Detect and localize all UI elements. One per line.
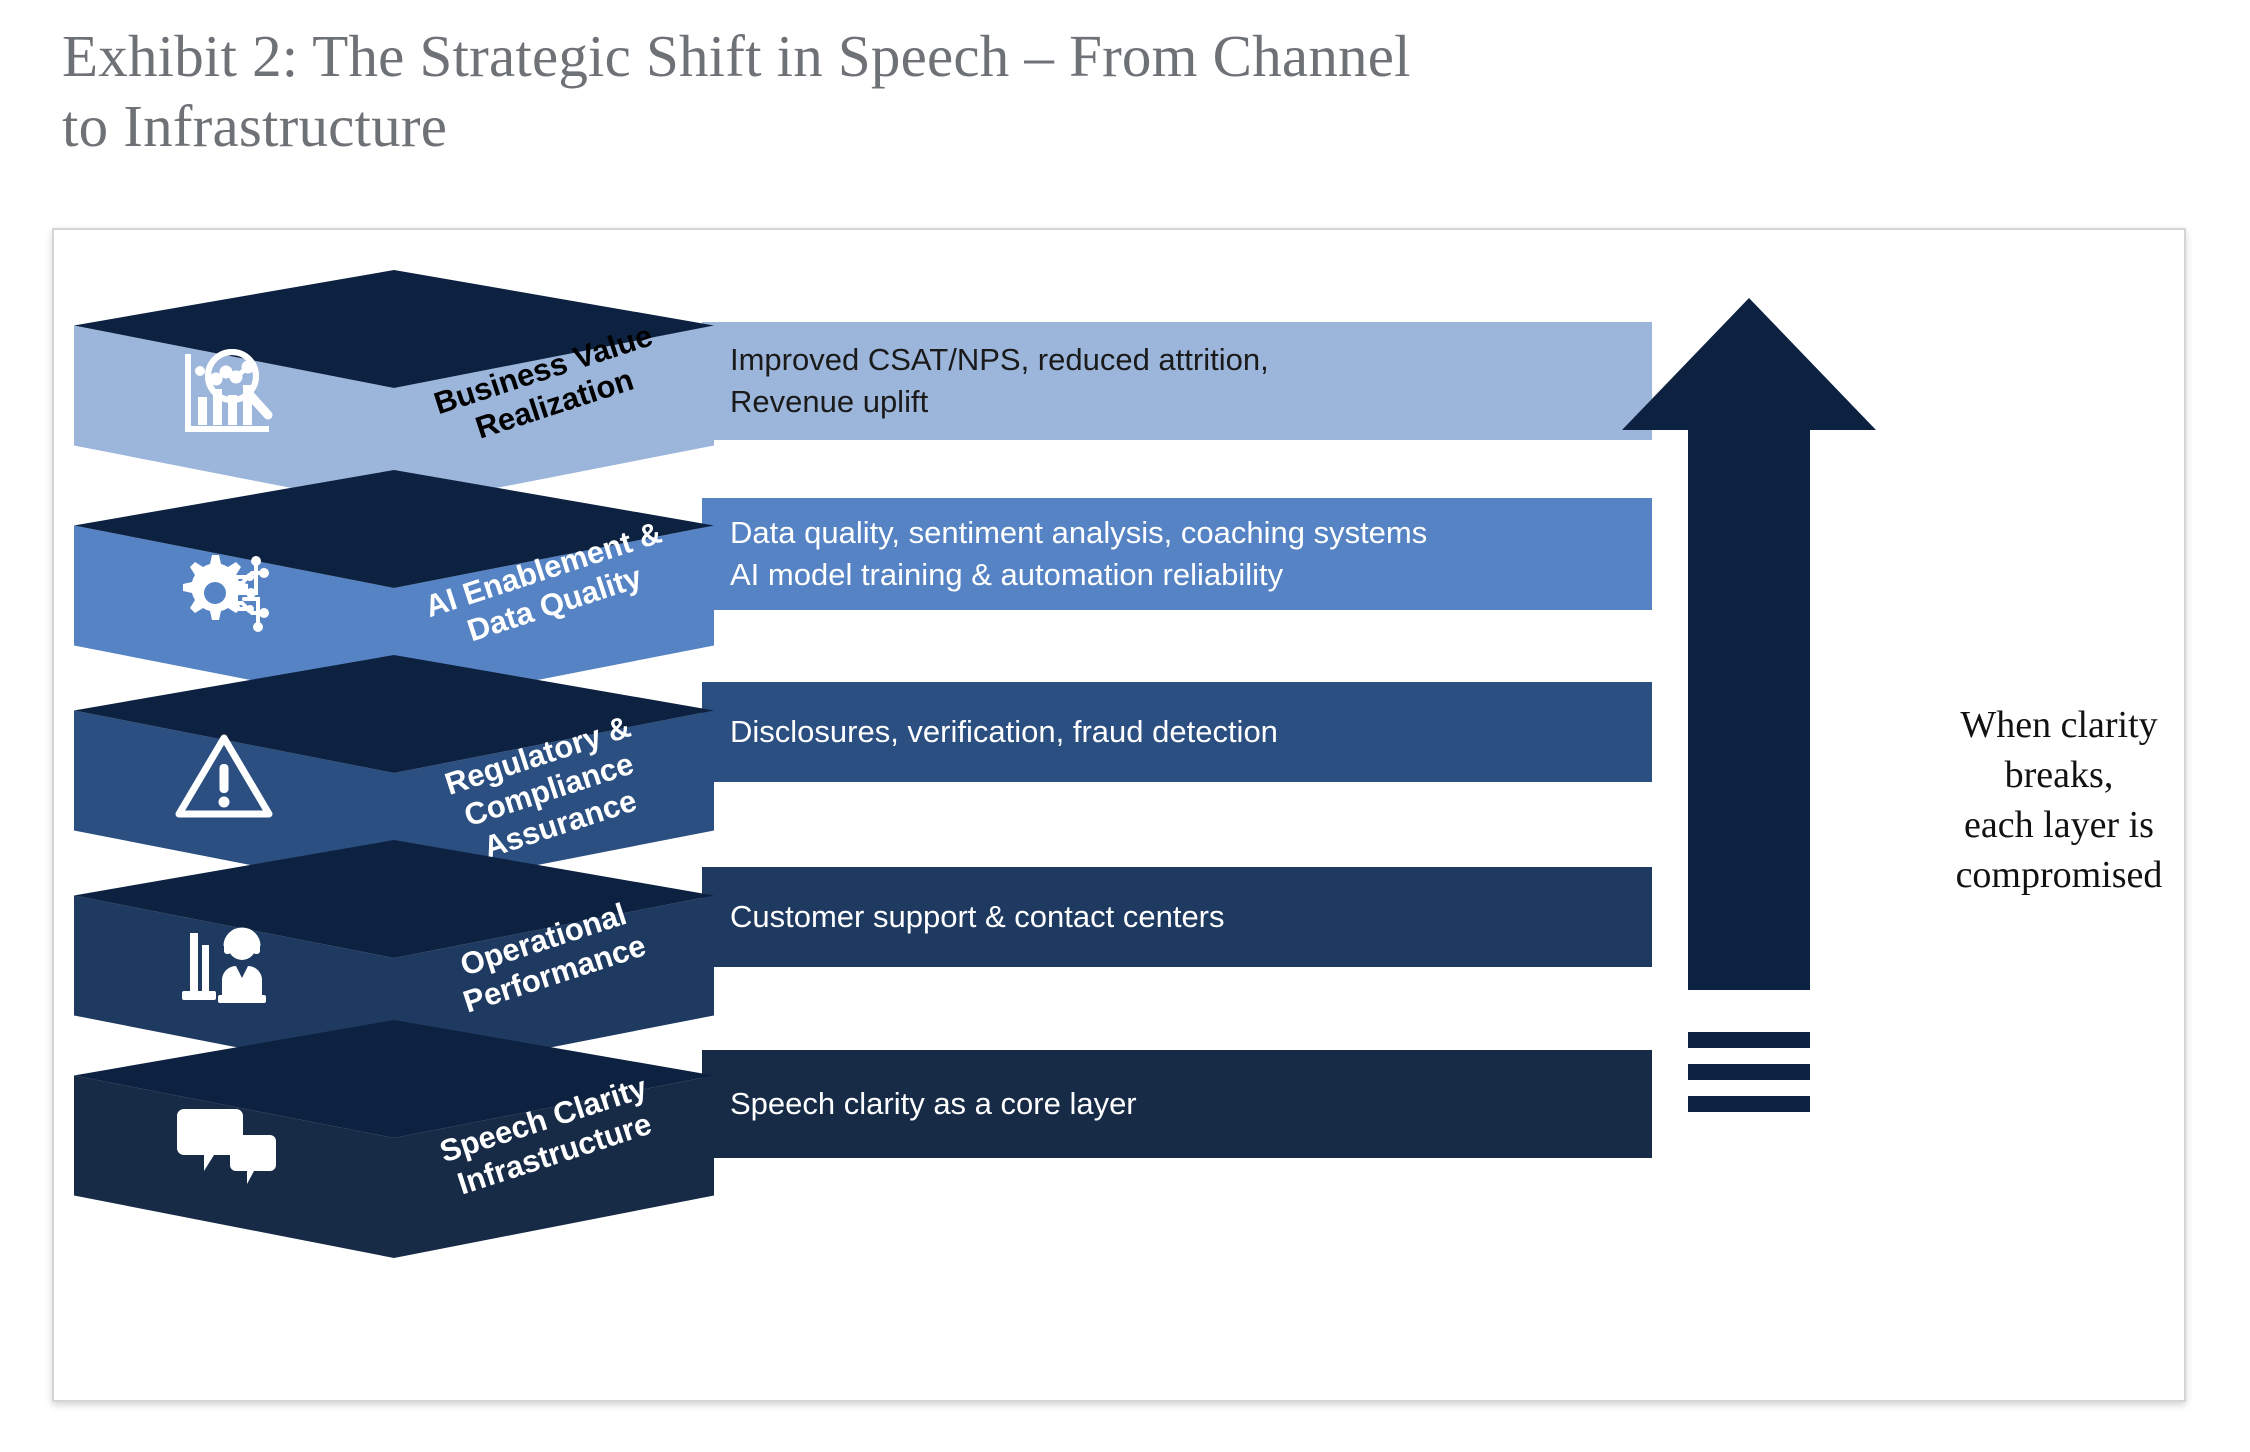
description-line: Data quality, sentiment analysis, coachi…	[730, 512, 1652, 554]
upward-arrow-icon	[1614, 290, 1884, 990]
description-line: Disclosures, verification, fraud detecti…	[730, 711, 1652, 753]
layer-label-line: Infrastructure	[392, 1086, 717, 1222]
layer-label-line: AI Enablement &	[381, 502, 706, 638]
layer-shape-business-value-realization	[54, 230, 754, 1402]
layer-label-line: Speech Clarity	[381, 1052, 706, 1188]
upward-arrow-group	[1614, 290, 1884, 1310]
page-title-line-1: Exhibit 2: The Strategic Shift in Speech…	[62, 22, 1962, 92]
description-line: Speech clarity as a core layer	[730, 1083, 1652, 1125]
layer-label-regulatory-compliance-assurance: Regulatory &ComplianceAssurance	[375, 688, 722, 893]
layer-label-ai-enablement-data-quality: AI Enablement &Data Quality	[381, 502, 717, 672]
layer-label-line: Realization	[392, 336, 717, 472]
arrow-caption-line: breaks,	[1894, 750, 2186, 800]
description-line: Revenue uplift	[730, 381, 1652, 423]
arrow-caption-line: compromised	[1894, 850, 2186, 900]
description-bar-operational-performance: Customer support & contact centers	[702, 867, 1652, 967]
description-bar-regulatory-compliance-assurance: Disclosures, verification, fraud detecti…	[702, 682, 1652, 782]
layer-label-line: Data Quality	[392, 536, 717, 672]
layer-shape-ai-enablement-data-quality	[54, 230, 754, 1402]
page-title: Exhibit 2: The Strategic Shift in Speech…	[62, 22, 1962, 161]
layer-stack-diagram: Improved CSAT/NPS, reduced attrition,Rev…	[54, 230, 2184, 1400]
arrow-caption-line: each layer is	[1894, 800, 2186, 850]
layer-label-line: Assurance	[398, 756, 723, 892]
layer-shape-operational-performance	[54, 230, 754, 1402]
layer-label-line: Compliance	[387, 722, 712, 858]
arrow-caption-line: When clarity	[1894, 700, 2186, 750]
layer-label-line: Regulatory &	[375, 688, 700, 824]
layer-label-operational-performance: OperationalPerformance	[381, 872, 717, 1042]
layer-shape-regulatory-compliance-assurance	[54, 230, 754, 1402]
description-line: AI model training & automation reliabili…	[730, 554, 1652, 596]
description-line: Improved CSAT/NPS, reduced attrition,	[730, 339, 1652, 381]
diagram-frame: Improved CSAT/NPS, reduced attrition,Rev…	[52, 228, 2186, 1402]
layer-label-business-value-realization: Business ValueRealization	[381, 302, 717, 472]
description-bar-business-value-realization: Improved CSAT/NPS, reduced attrition,Rev…	[702, 322, 1652, 440]
layer-label-line: Business Value	[381, 302, 706, 438]
arrow-caption: When claritybreaks,each layer iscompromi…	[1894, 700, 2186, 901]
page-title-line-2: to Infrastructure	[62, 92, 1962, 162]
layer-label-line: Performance	[392, 906, 717, 1042]
description-bar-ai-enablement-data-quality: Data quality, sentiment analysis, coachi…	[702, 498, 1652, 610]
description-bar-speech-clarity-infrastructure: Speech clarity as a core layer	[702, 1050, 1652, 1158]
arrow-rung-3	[1688, 1096, 1810, 1112]
layer-label-line: Operational	[381, 872, 706, 1008]
layer-label-speech-clarity-infrastructure: Speech ClarityInfrastructure	[381, 1052, 717, 1222]
layer-shape-speech-clarity-infrastructure	[54, 230, 754, 1402]
arrow-rung-1	[1688, 1032, 1810, 1048]
arrow-rung-2	[1688, 1064, 1810, 1080]
description-line: Customer support & contact centers	[730, 896, 1652, 938]
